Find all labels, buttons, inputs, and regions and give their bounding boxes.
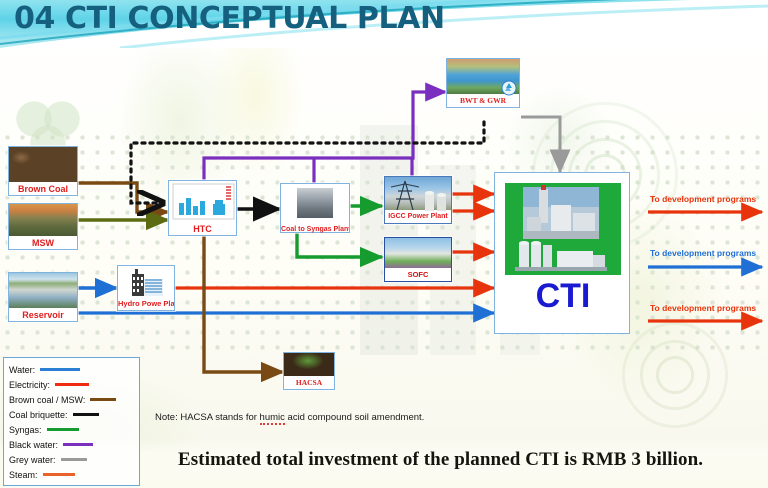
legend-item: Syngas: [9,422,134,437]
node-msw[interactable]: MSW [8,203,78,250]
igcc-image [385,177,451,210]
legend-label: Brown coal / MSW: [9,395,85,405]
wire-htc-to-hacsa [204,236,283,372]
node-sofc[interactable]: SOFC [384,237,452,282]
node-igcc-label: IGCC Power Plant [385,210,451,223]
brown-coal-image [9,147,77,182]
hacsa-image [284,353,334,376]
cti-plant-illustration [505,183,621,275]
node-hacsa[interactable]: HACSA [283,352,335,390]
legend-swatch-browncoal [90,398,116,401]
footnote-prefix: Note: HACSA stands for [155,412,260,423]
legend-swatch-electricity [55,383,89,386]
msw-image [9,204,77,236]
node-sofc-label: SOFC [385,268,451,281]
legend-item: Grey water: [9,452,134,467]
node-syngas-label: Coal to Syngas Plant [281,223,349,236]
legend-swatch-steam [43,473,75,476]
legend-item: Black water: [9,437,134,452]
legend-item: Steam: [9,467,134,482]
slide-canvas: 04 CTI CONCEPTUAL PLAN [0,0,768,488]
node-brown-coal[interactable]: Brown Coal [8,146,78,196]
legend-item: Coal briquette: [9,407,134,422]
node-htc[interactable]: HTC [168,180,237,236]
wire-htc-blackwater-to-bwt [204,92,446,183]
legend-item: Electricity: [9,377,134,392]
legend-swatch-briquette [73,413,99,416]
investment-statement: Estimated total investment of the planne… [178,449,703,471]
cti-image-panel [505,183,621,275]
node-hydro-power-plant[interactable]: Hydro Powe Plant [117,265,175,311]
legend-label: Black water: [9,440,58,450]
output-label-1: To development programs [650,194,756,204]
footnote: Note: HACSA stands for humic acid compou… [155,412,424,423]
wire-bwt-greywater-to-cti [521,117,560,172]
recycle-badge-icon [447,59,521,96]
node-brown-coal-label: Brown Coal [9,182,77,197]
node-hacsa-label: HACSA [284,376,334,389]
legend-label: Steam: [9,470,38,480]
hydro-dam-glyph [118,266,176,299]
node-bwt-gwr[interactable]: BWT & GWR [446,58,520,108]
legend-swatch-syngas [47,428,79,431]
legend-label: Water: [9,365,35,375]
legend-panel: Water: Electricity: Brown coal / MSW: Co… [3,357,140,486]
legend-swatch-greywater [61,458,87,461]
igcc-pylon-glyph [385,177,453,212]
wire-syngas-to-sofc [297,233,382,257]
node-reservoir-label: Reservoir [9,308,77,323]
legend-label: Grey water: [9,455,56,465]
node-reservoir[interactable]: Reservoir [8,272,78,322]
legend-swatch-water [40,368,80,371]
legend-item: Water: [9,362,134,377]
htc-bars-glyph [169,181,238,222]
bwt-gwr-image [447,59,519,94]
hydro-plant-icon [118,266,174,297]
legend-item: Brown coal / MSW: [9,392,134,407]
cti-label: CTI [495,277,631,316]
page-title: 04 CTI CONCEPTUAL PLAN [14,1,445,36]
node-hydro-label: Hydro Powe Plant [118,297,174,310]
output-label-2: To development programs [650,248,756,258]
syngas-plant-image [281,188,349,223]
legend-label: Coal briquette: [9,410,68,420]
htc-chart-icon [169,181,236,222]
reservoir-image [9,273,77,308]
node-cti[interactable]: CTI [494,172,630,334]
node-msw-label: MSW [9,236,77,251]
node-coal-to-syngas-plant[interactable]: Coal to Syngas Plant [280,183,350,233]
wire-browncoal-to-htc [78,183,168,212]
legend-label: Electricity: [9,380,50,390]
sofc-image [385,238,451,268]
footnote-underlined-word: humic [260,412,285,425]
node-htc-label: HTC [169,222,236,237]
legend-swatch-blackwater [63,443,93,446]
legend-label: Syngas: [9,425,42,435]
output-label-3: To development programs [650,303,756,313]
node-igcc-power-plant[interactable]: IGCC Power Plant [384,176,452,224]
footnote-suffix: acid compound soil amendment. [285,412,424,423]
